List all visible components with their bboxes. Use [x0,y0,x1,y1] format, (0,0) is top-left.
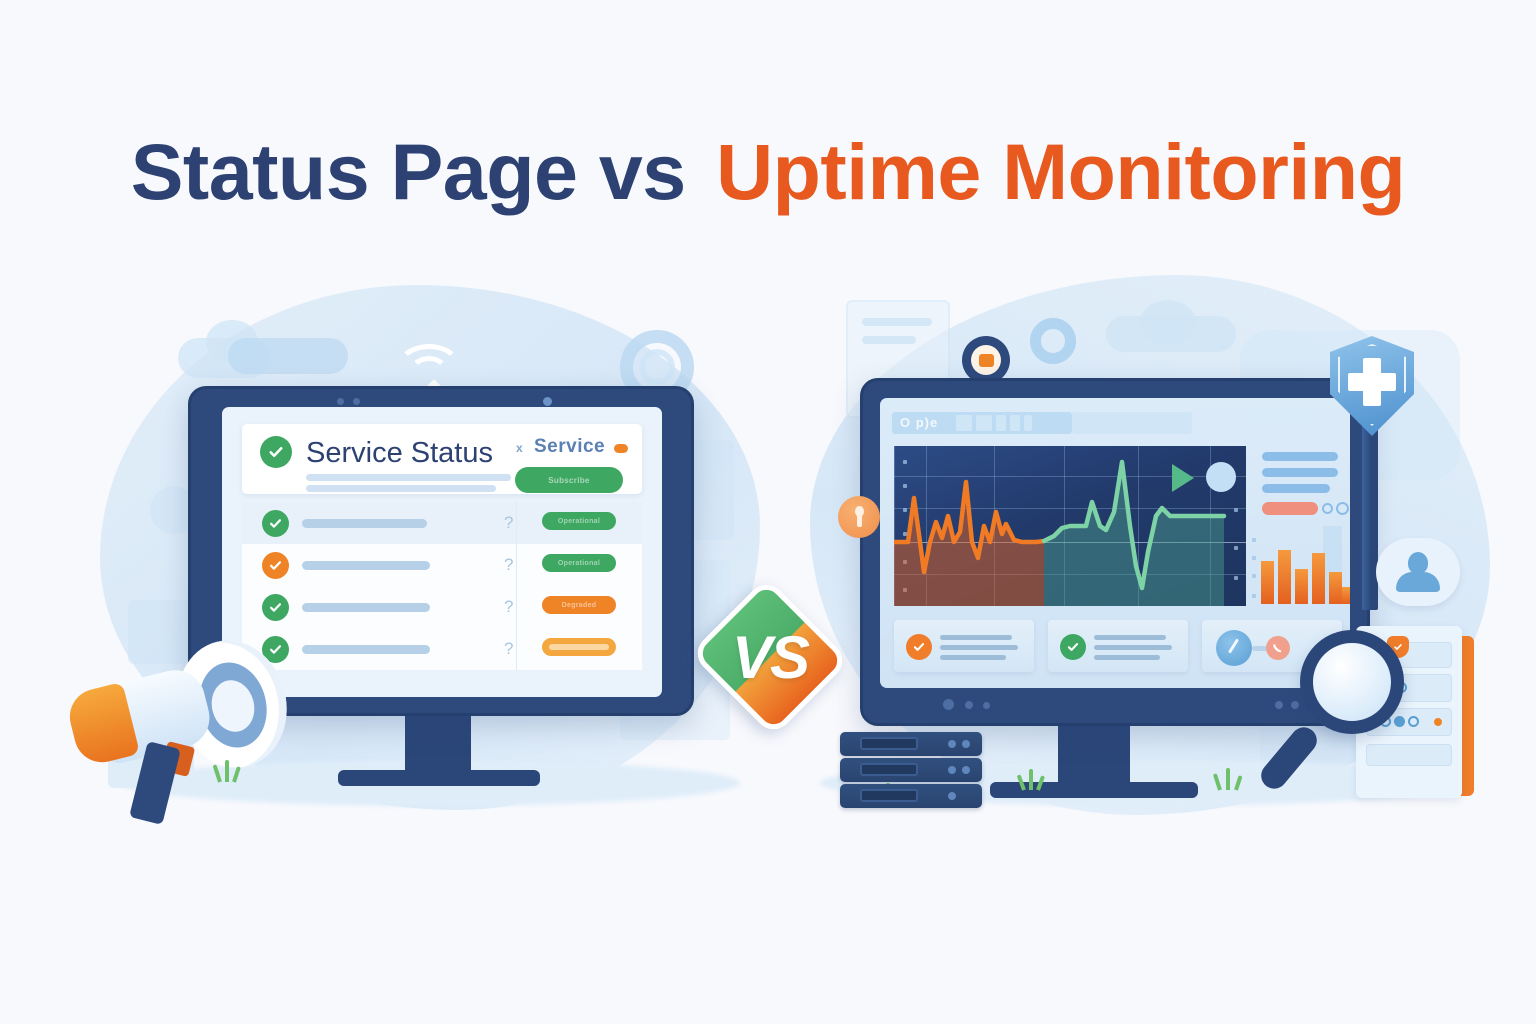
uptime-dashboard-screen: O p)e [880,398,1350,688]
document-circle-icon [1394,716,1405,727]
monitor-stand-neck [1058,718,1130,790]
server-rack-icon [840,732,982,756]
row-divider [516,628,517,670]
sidebar-skeleton-line [1262,484,1330,493]
document-status-dot [1434,718,1442,726]
check-circle-icon [260,436,292,468]
series-recovered-fill [1044,462,1224,606]
check-circle-icon [906,634,932,660]
server-slot [860,737,918,750]
brand-text: Service [534,436,605,458]
topbar-skeleton [956,415,972,431]
topbar-extension [1250,408,1310,420]
card-skeleton-line [940,645,1018,650]
server-rack-icon [840,784,982,808]
server-status-dot [962,740,970,748]
sidebar-skeleton-line [1262,452,1338,461]
indicator-dot [1291,701,1299,709]
server-slot [860,763,918,776]
bar-axis-tick [1252,594,1256,598]
megaphone-icon [60,640,310,820]
sidebar-alert-pill [1262,502,1318,515]
topbar-skeleton [976,415,992,431]
topbar-extension [1072,412,1192,434]
monitor-stand-base [338,770,540,786]
row-status-pill[interactable]: Degraded [542,596,616,614]
server-status-dot [948,740,956,748]
indicator-dot [1275,701,1283,709]
bar-chart-bar [1261,561,1274,604]
card-skeleton-line [1094,635,1166,640]
row-divider [516,544,517,586]
check-circle-icon [1060,634,1086,660]
webcam-dot [353,398,360,405]
phone-icon [1266,636,1290,660]
row-divider [516,502,517,544]
card-skeleton-line [940,635,1012,640]
shield-pole [1362,420,1378,610]
header-skeleton-line [306,474,511,481]
topbar-skeleton [1024,415,1032,431]
row-status-pill[interactable]: Operational [542,554,616,572]
webcam-dot [337,398,344,405]
bar-axis-tick [1252,538,1256,542]
status-badge-icon [962,336,1010,384]
row-meta: ? [504,639,513,659]
check-circle-icon [262,510,289,537]
row-skeleton-name [302,561,430,570]
brand-mark-x: x [516,441,523,455]
check-circle-icon [262,594,289,621]
decoration-square [862,336,916,344]
row-skeleton-name [302,645,430,654]
card-skeleton-line [940,655,1006,660]
row-status-pill[interactable]: Operational [542,512,616,530]
row-skeleton-name [302,603,430,612]
topbar-skeleton [1010,415,1020,431]
brand-accent-dot [614,444,628,453]
sidebar-skeleton-line [1262,468,1338,477]
sidebar-ring-icon [1322,503,1333,514]
subscribe-pill-button[interactable]: Subscribe [515,467,623,493]
bar-axis-tick [1252,556,1256,560]
illustration-canvas: Status Page vs Uptime Monitoring Service… [0,0,1536,1024]
indicator-dot [943,699,954,710]
card-skeleton-line [1094,655,1160,660]
sidebar-ring-icon [1336,502,1349,515]
row-skeleton-name [302,519,427,528]
play-triangle-icon [1172,464,1194,492]
power-dot [543,397,552,406]
user-avatar-icon [1396,572,1440,592]
card-skeleton-line [1094,645,1172,650]
indicator-dot [965,701,973,709]
bar-chart-bar [1312,553,1325,604]
bar-chart-bar [1295,569,1308,604]
user-avatar-icon [1408,552,1428,574]
row-meta: ? [504,555,513,575]
lock-keyhole-icon [857,514,862,527]
uptime-line-chart [894,446,1246,606]
server-rack-icon [840,758,982,782]
cloud-decoration [1140,300,1196,346]
document-row [1366,744,1452,766]
dashboard-topbar-text: O p)e [900,415,938,430]
indicator-dot [983,702,990,709]
document-circle-icon [1408,716,1419,727]
title-part-orange: Uptime Monitoring [716,127,1405,216]
page-title: Status Page vs Uptime Monitoring [0,126,1536,218]
decoration-square [862,318,932,326]
topbar-skeleton [996,415,1006,431]
magnifier-icon [1300,630,1404,734]
server-status-dot [948,766,956,774]
bar-axis-tick [1252,574,1256,578]
server-status-dot [948,792,956,800]
bar-chart-bar [1342,587,1350,604]
gear-icon [1030,318,1076,364]
row-divider [516,586,517,628]
service-status-title: Service Status [306,437,493,470]
shield-cross-icon [1348,373,1396,391]
server-status-dot [962,766,970,774]
vs-badge-label: VS [688,582,852,732]
title-part-navy: Status Page vs [131,127,686,216]
cloud-decoration [228,338,348,374]
chart-marker-dot [1206,462,1236,492]
bar-chart-bar [1329,572,1342,604]
header-skeleton-line [306,485,496,492]
vs-badge: VS [688,582,852,732]
server-slot [860,789,918,802]
bar-chart-bar [1278,550,1291,604]
row-meta: ? [504,597,513,617]
row-status-pill-inner [549,644,609,650]
row-meta: ? [504,513,513,533]
check-circle-icon [262,552,289,579]
